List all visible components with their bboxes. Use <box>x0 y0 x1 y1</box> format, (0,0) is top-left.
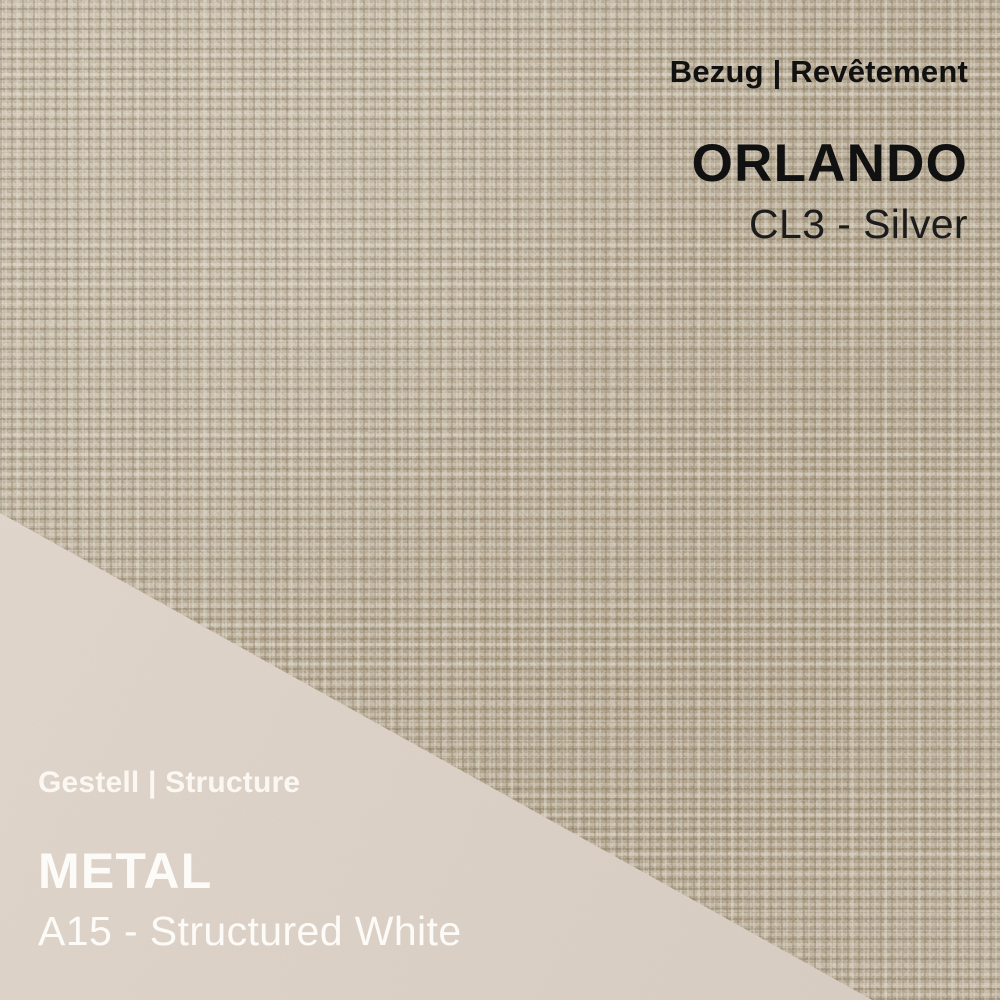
upholstery-info-block: Bezug | Revêtement ORLANDO CL3 - Silver <box>670 56 968 245</box>
upholstery-product-code: CL3 - Silver <box>670 204 968 245</box>
frame-product-code: A15 - Structured White <box>38 911 462 952</box>
upholstery-category-label: Bezug | Revêtement <box>670 56 968 87</box>
frame-category-label: Gestell | Structure <box>38 768 462 798</box>
frame-product-name: METAL <box>38 846 462 896</box>
material-swatch-card: Bezug | Revêtement ORLANDO CL3 - Silver … <box>0 0 1000 1000</box>
frame-info-block: Gestell | Structure METAL A15 - Structur… <box>38 768 462 952</box>
upholstery-product-name: ORLANDO <box>670 137 968 190</box>
